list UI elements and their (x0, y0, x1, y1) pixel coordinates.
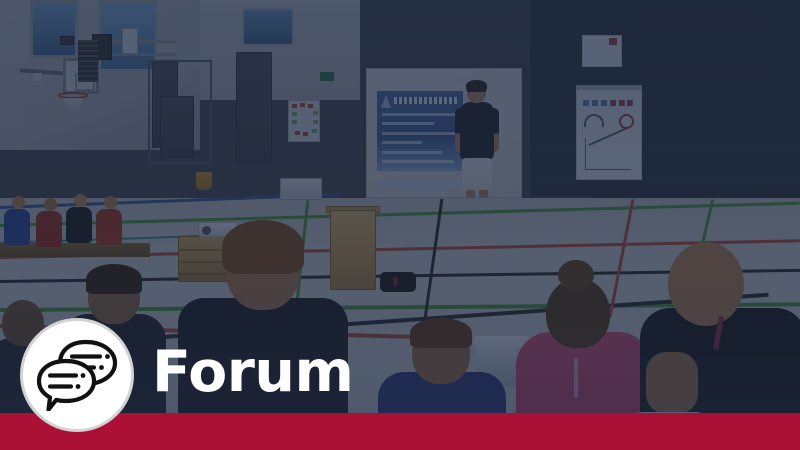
speech-bubbles-icon (36, 339, 118, 411)
bottom-accent-bar (0, 413, 800, 450)
forum-badge[interactable] (20, 318, 134, 432)
forum-banner[interactable]: Forum (0, 0, 800, 450)
page-title: Forum (152, 341, 353, 403)
